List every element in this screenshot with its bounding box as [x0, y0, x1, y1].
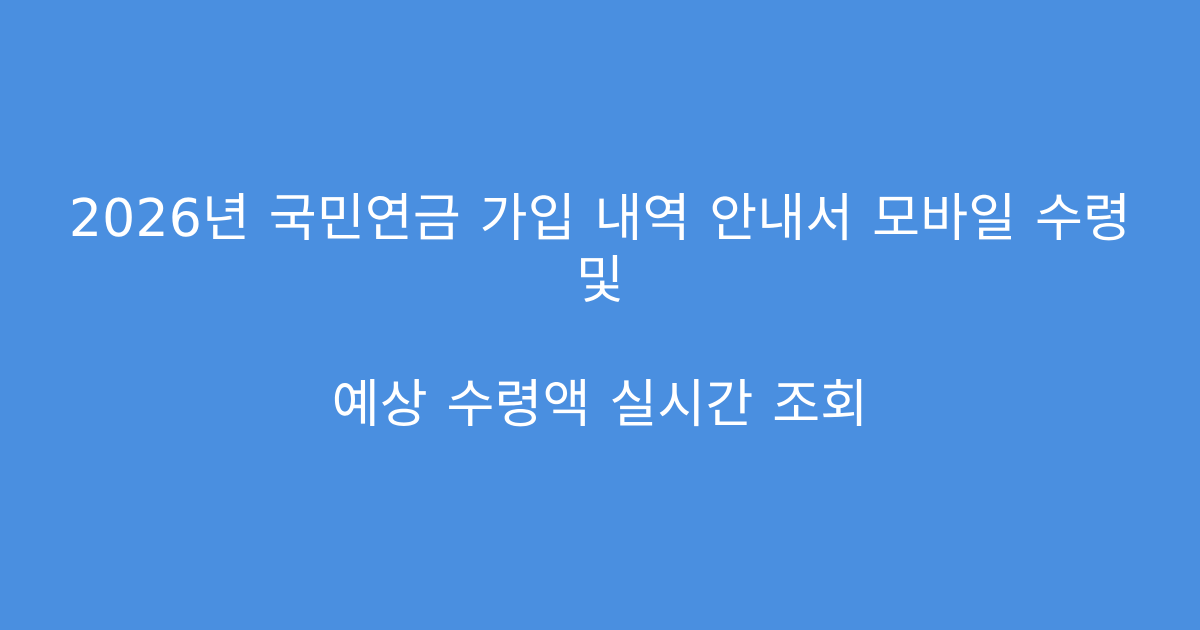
headline-line-2: 예상 수령액 실시간 조회 [40, 374, 1160, 436]
thumbnail-card: 2026년 국민연금 가입 내역 안내서 모바일 수령 및 예상 수령액 실시간… [0, 0, 1200, 630]
headline-line-1: 2026년 국민연금 가입 내역 안내서 모바일 수령 및 [40, 188, 1160, 312]
page-title: 2026년 국민연금 가입 내역 안내서 모바일 수령 및 예상 수령액 실시간… [40, 126, 1160, 498]
